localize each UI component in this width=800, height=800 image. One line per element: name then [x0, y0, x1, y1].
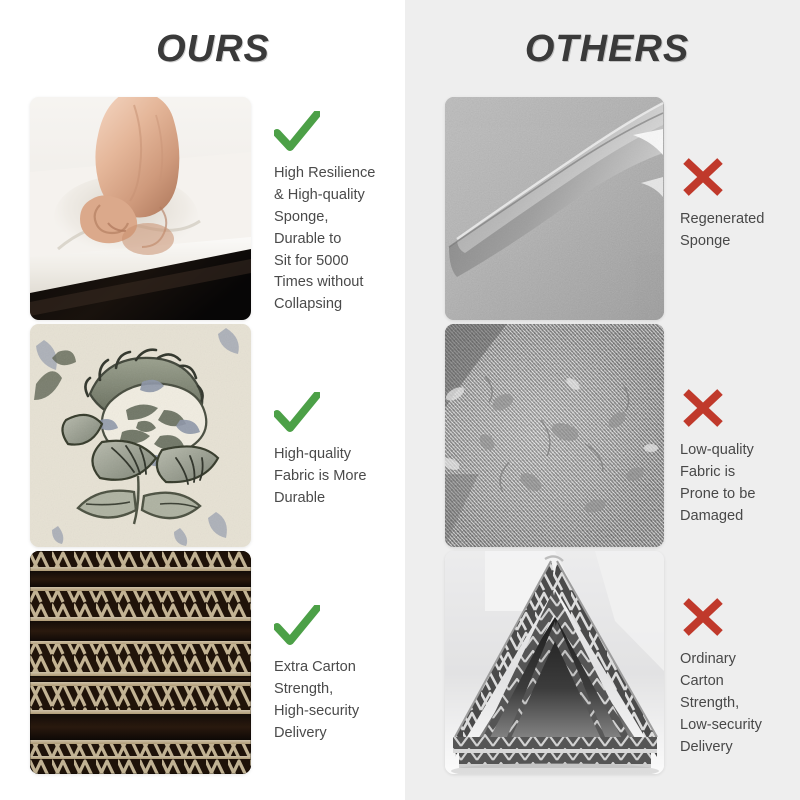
corrugated-stack-artwork — [30, 551, 251, 774]
ours-resilience-info: High Resilience & High-quality Sponge, D… — [274, 103, 409, 316]
others-carton-info: Ordinary Carton Strength, Low-security D… — [680, 557, 800, 758]
check-icon — [274, 111, 320, 151]
others-carton-image — [445, 551, 664, 774]
others-resilience-info: Regenerated Sponge — [680, 103, 800, 253]
ours-column-title: OURS — [18, 28, 408, 71]
others-carton-caption: Ordinary Carton Strength, Low-security D… — [680, 649, 800, 758]
others-fabric-caption: Low-quality Fabric is Prone to be Damage… — [680, 440, 800, 528]
others-row-fabric: Low-quality Fabric is Prone to be Damage… — [445, 324, 795, 552]
check-icon — [274, 605, 320, 645]
others-fabric-image — [445, 324, 664, 547]
ours-carton-caption: Extra Carton Strength, High-security Del… — [274, 657, 409, 745]
others-resilience-caption: Regenerated Sponge — [680, 209, 800, 253]
floral-fabric-artwork — [30, 324, 251, 547]
cardboard-tent-artwork — [445, 551, 664, 774]
ours-fabric-image — [30, 324, 251, 547]
others-carton-image-wrap: Ordinary Carton Strength, Low-security D… — [445, 551, 795, 779]
ours-resilience-caption: High Resilience & High-quality Sponge, D… — [274, 163, 409, 316]
others-sponge-image — [445, 97, 664, 320]
ours-row-fabric: High-quality Fabric is More Durable — [30, 324, 400, 552]
others-fabric-info: Low-quality Fabric is Prone to be Damage… — [680, 330, 800, 528]
ours-row-carton: Extra Carton Strength, High-security Del… — [30, 551, 400, 779]
others-column-title: OTHERS — [412, 28, 800, 71]
ours-row-resilience: High Resilience & High-quality Sponge, D… — [30, 97, 400, 325]
cross-icon — [680, 597, 726, 637]
cross-icon — [680, 388, 726, 428]
cross-icon — [680, 157, 726, 197]
foam-artwork — [30, 97, 251, 320]
others-row-resilience: Regenerated Sponge — [445, 97, 795, 325]
ours-fabric-info: High-quality Fabric is More Durable — [274, 330, 409, 510]
ours-carton-image — [30, 551, 251, 774]
check-icon — [274, 392, 320, 432]
ours-carton-info: Extra Carton Strength, High-security Del… — [274, 557, 409, 745]
grey-sponge-artwork — [445, 97, 664, 320]
comparison-board: OURS OTHERS — [0, 0, 800, 800]
damaged-fabric-artwork — [445, 324, 664, 547]
ours-sponge-image — [30, 97, 251, 320]
ours-fabric-caption: High-quality Fabric is More Durable — [274, 444, 409, 510]
